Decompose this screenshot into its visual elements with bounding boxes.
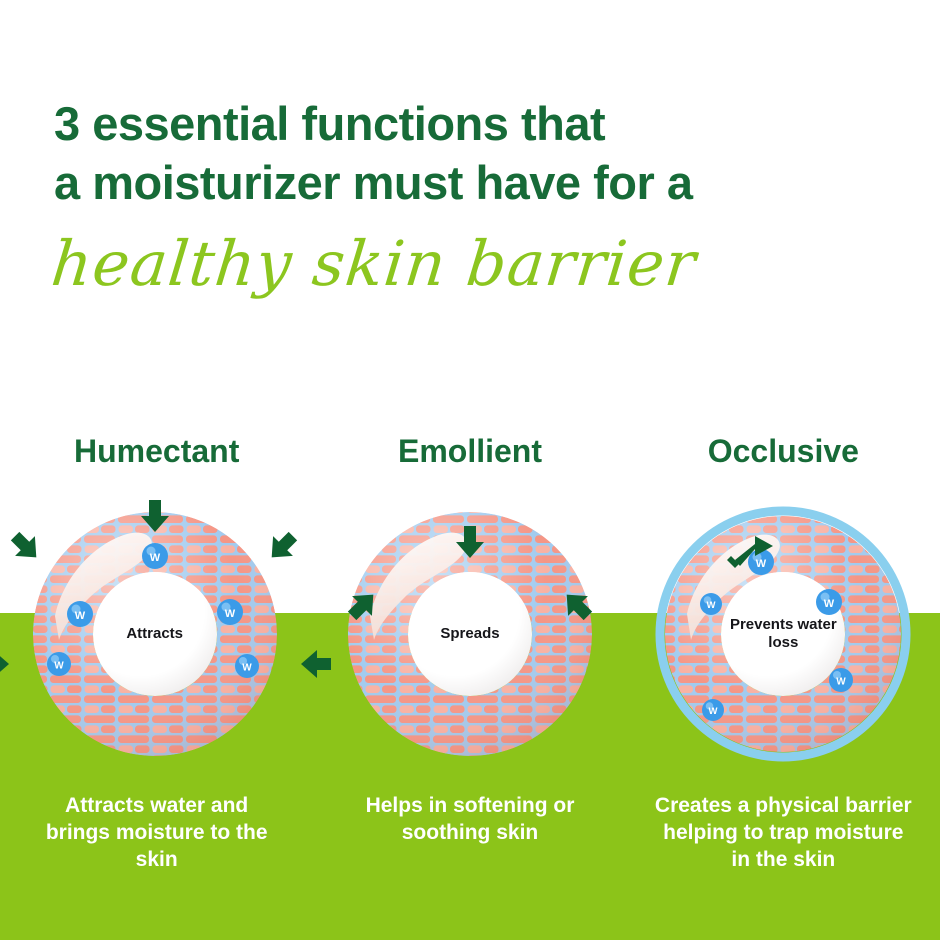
svg-text:W: W <box>242 663 252 674</box>
svg-text:W: W <box>54 661 64 672</box>
water-molecule: W <box>702 699 724 721</box>
diagram-svg-occlusive: W W W <box>643 494 923 774</box>
svg-text:W: W <box>824 598 835 610</box>
diagram-emollient: Spreads <box>330 494 610 774</box>
water-molecule: W <box>235 654 259 678</box>
svg-text:W: W <box>149 552 160 564</box>
water-molecule: W <box>142 543 168 569</box>
arrow-left-upper <box>5 526 46 567</box>
infographic-canvas: 3 essential functions that a moisturizer… <box>0 0 940 940</box>
water-molecule: W <box>47 652 71 676</box>
column-humectant: Humectant <box>0 430 313 930</box>
inner-circle <box>408 572 532 696</box>
diagram-svg-emollient <box>330 494 610 774</box>
column-title-emollient: Emollient <box>398 430 542 472</box>
water-molecule: W <box>700 593 722 615</box>
svg-text:W: W <box>74 610 85 622</box>
svg-text:W: W <box>707 600 716 611</box>
water-molecule: W <box>816 589 842 615</box>
water-molecule: W <box>217 599 243 625</box>
column-title-occlusive: Occlusive <box>708 430 859 472</box>
svg-text:W: W <box>756 558 767 570</box>
columns-row: Humectant <box>0 430 940 930</box>
svg-text:W: W <box>709 706 718 717</box>
water-molecule: W <box>67 601 93 627</box>
headline-line-1: 3 essential functions that <box>54 94 692 153</box>
svg-text:W: W <box>224 608 235 620</box>
headline-line-2: a moisturizer must have for a <box>54 153 692 212</box>
caption-humectant: Attracts water and brings moisture to th… <box>32 792 282 873</box>
arrow-right-upper <box>261 526 302 567</box>
water-molecule: W <box>748 549 774 575</box>
svg-text:W: W <box>837 677 847 688</box>
diagram-occlusive: W W W <box>643 494 923 774</box>
headline-block: 3 essential functions that a moisturizer… <box>54 94 692 212</box>
column-emollient: Emollient <box>313 430 626 930</box>
column-title-humectant: Humectant <box>74 430 239 472</box>
inner-circle <box>93 572 217 696</box>
column-occlusive: Occlusive <box>627 430 940 930</box>
diagram-humectant: W W W <box>15 494 295 774</box>
diagram-svg-humectant: W W W <box>15 494 295 774</box>
headline-script-line: healthy skin barrier <box>48 228 700 300</box>
water-molecule: W <box>829 668 853 692</box>
arrow-left <box>0 650 9 678</box>
caption-occlusive: Creates a physical barrier helping to tr… <box>653 792 913 873</box>
caption-emollient: Helps in softening or soothing skin <box>345 792 595 846</box>
